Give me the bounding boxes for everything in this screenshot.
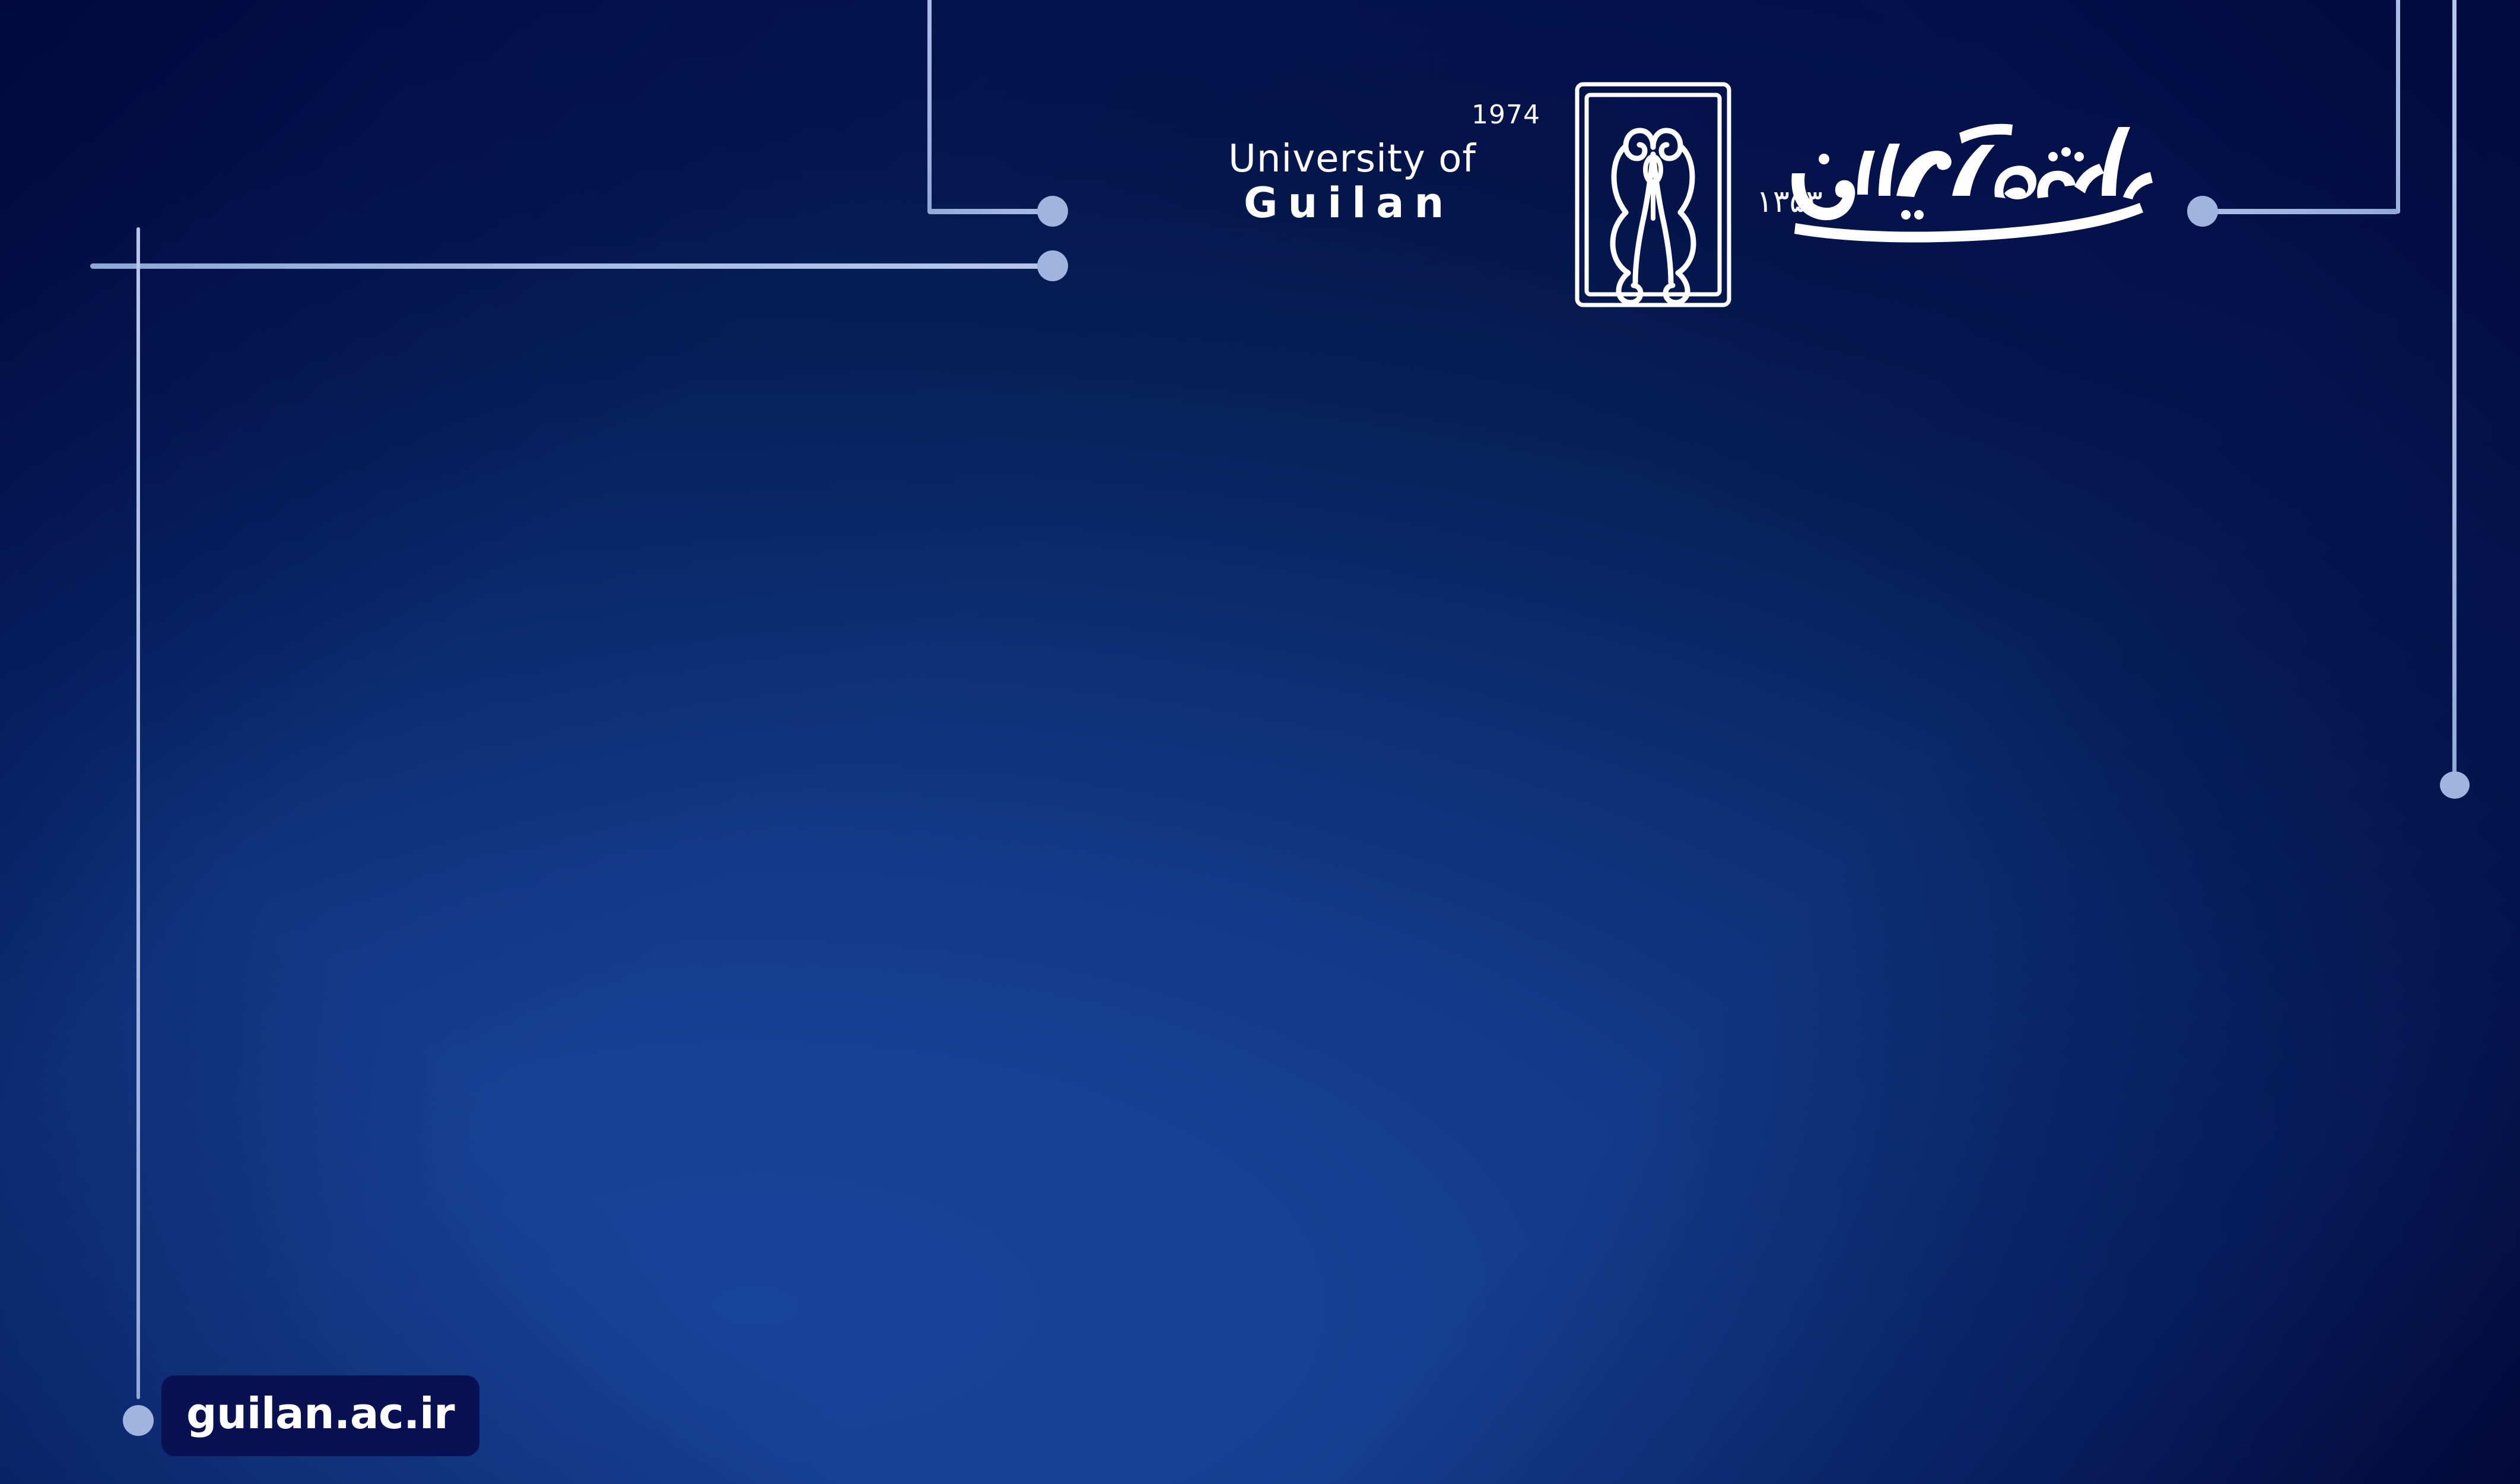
logo-english-text: University of Guilan	[1222, 140, 1543, 228]
logo-year-latin: 1974	[1472, 100, 1540, 130]
deco-dot-left-rail-end	[123, 1405, 154, 1436]
deco-dot-top-left-elbow	[1037, 196, 1068, 227]
website-url-text: guilan.ac.ir	[186, 1388, 455, 1438]
deco-line-right-vertical-rail	[2452, 0, 2457, 774]
logo-persian-wordmark	[1774, 107, 2154, 255]
deco-line-top-left-vertical	[927, 0, 932, 214]
deco-line-left-vertical-rail	[136, 227, 140, 1399]
deco-dot-right-rail-end	[2440, 771, 2470, 799]
university-logo: 1974 University of Guilan	[1222, 83, 2148, 320]
logo-line-guilan: Guilan	[1222, 179, 1543, 228]
deco-line-top-right-vertical	[2396, 0, 2400, 214]
deco-dot-upper-rail-end	[1037, 250, 1068, 281]
guilan-column-emblem-icon	[1564, 76, 1742, 313]
deco-line-upper-rail	[90, 263, 1055, 269]
banner-canvas: 1974 University of Guilan	[0, 0, 2520, 1484]
deco-line-top-right-horizontal	[2203, 209, 2398, 214]
logo-line-university-of: University of	[1222, 140, 1543, 179]
website-badge[interactable]: guilan.ac.ir	[161, 1375, 479, 1456]
deco-dot-top-right-elbow	[2187, 196, 2218, 227]
